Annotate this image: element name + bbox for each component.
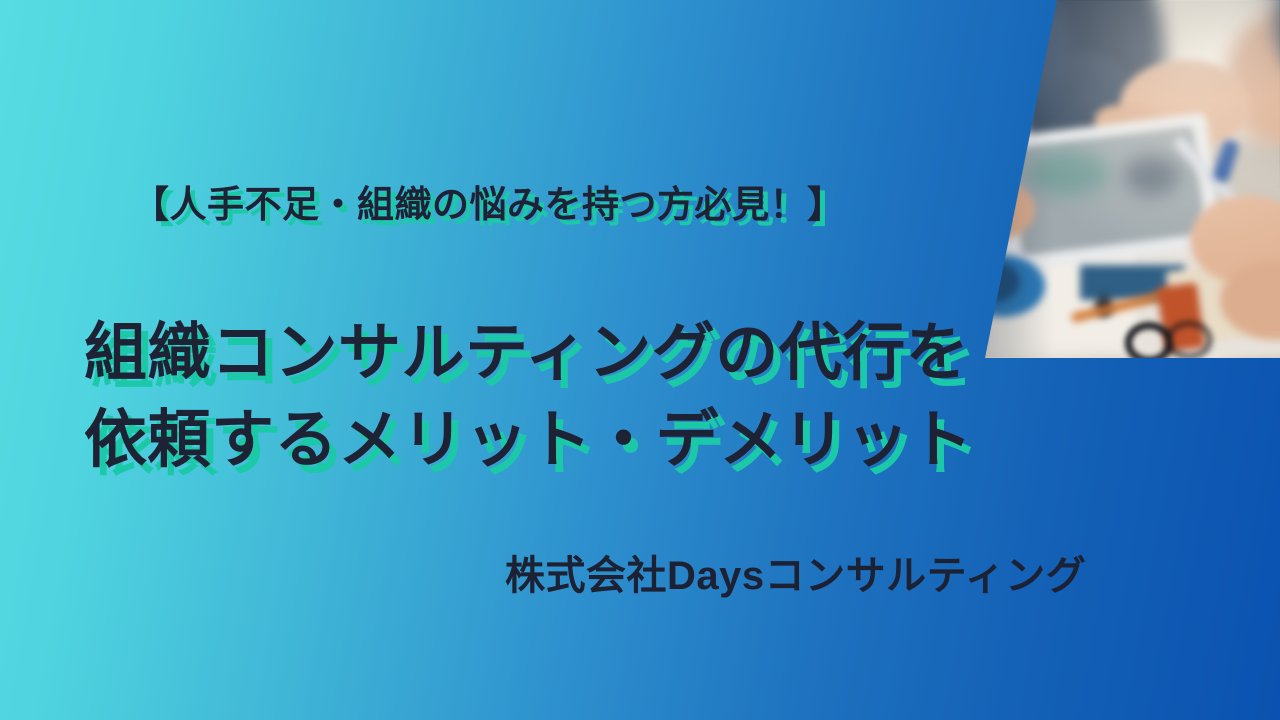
page-title: 組織コンサルティングの代行を 依頼するメリット・デメリット — [84, 310, 973, 483]
company-name: 株式会社Daysコンサルティング — [505, 543, 1086, 601]
page-title-line-1: 組織コンサルティングの代行を — [84, 310, 973, 396]
page-title-line-2: 依頼するメリット・デメリット — [84, 397, 973, 483]
slide-text-layer: 【人手不足・組織の悩みを持つ方必見！】 組織コンサルティングの代行を 依頼するメ… — [0, 0, 1280, 720]
title-slide: 【人手不足・組織の悩みを持つ方必見！】 組織コンサルティングの代行を 依頼するメ… — [0, 0, 1280, 720]
slide-subtitle: 【人手不足・組織の悩みを持つ方必見！】 — [132, 174, 845, 228]
